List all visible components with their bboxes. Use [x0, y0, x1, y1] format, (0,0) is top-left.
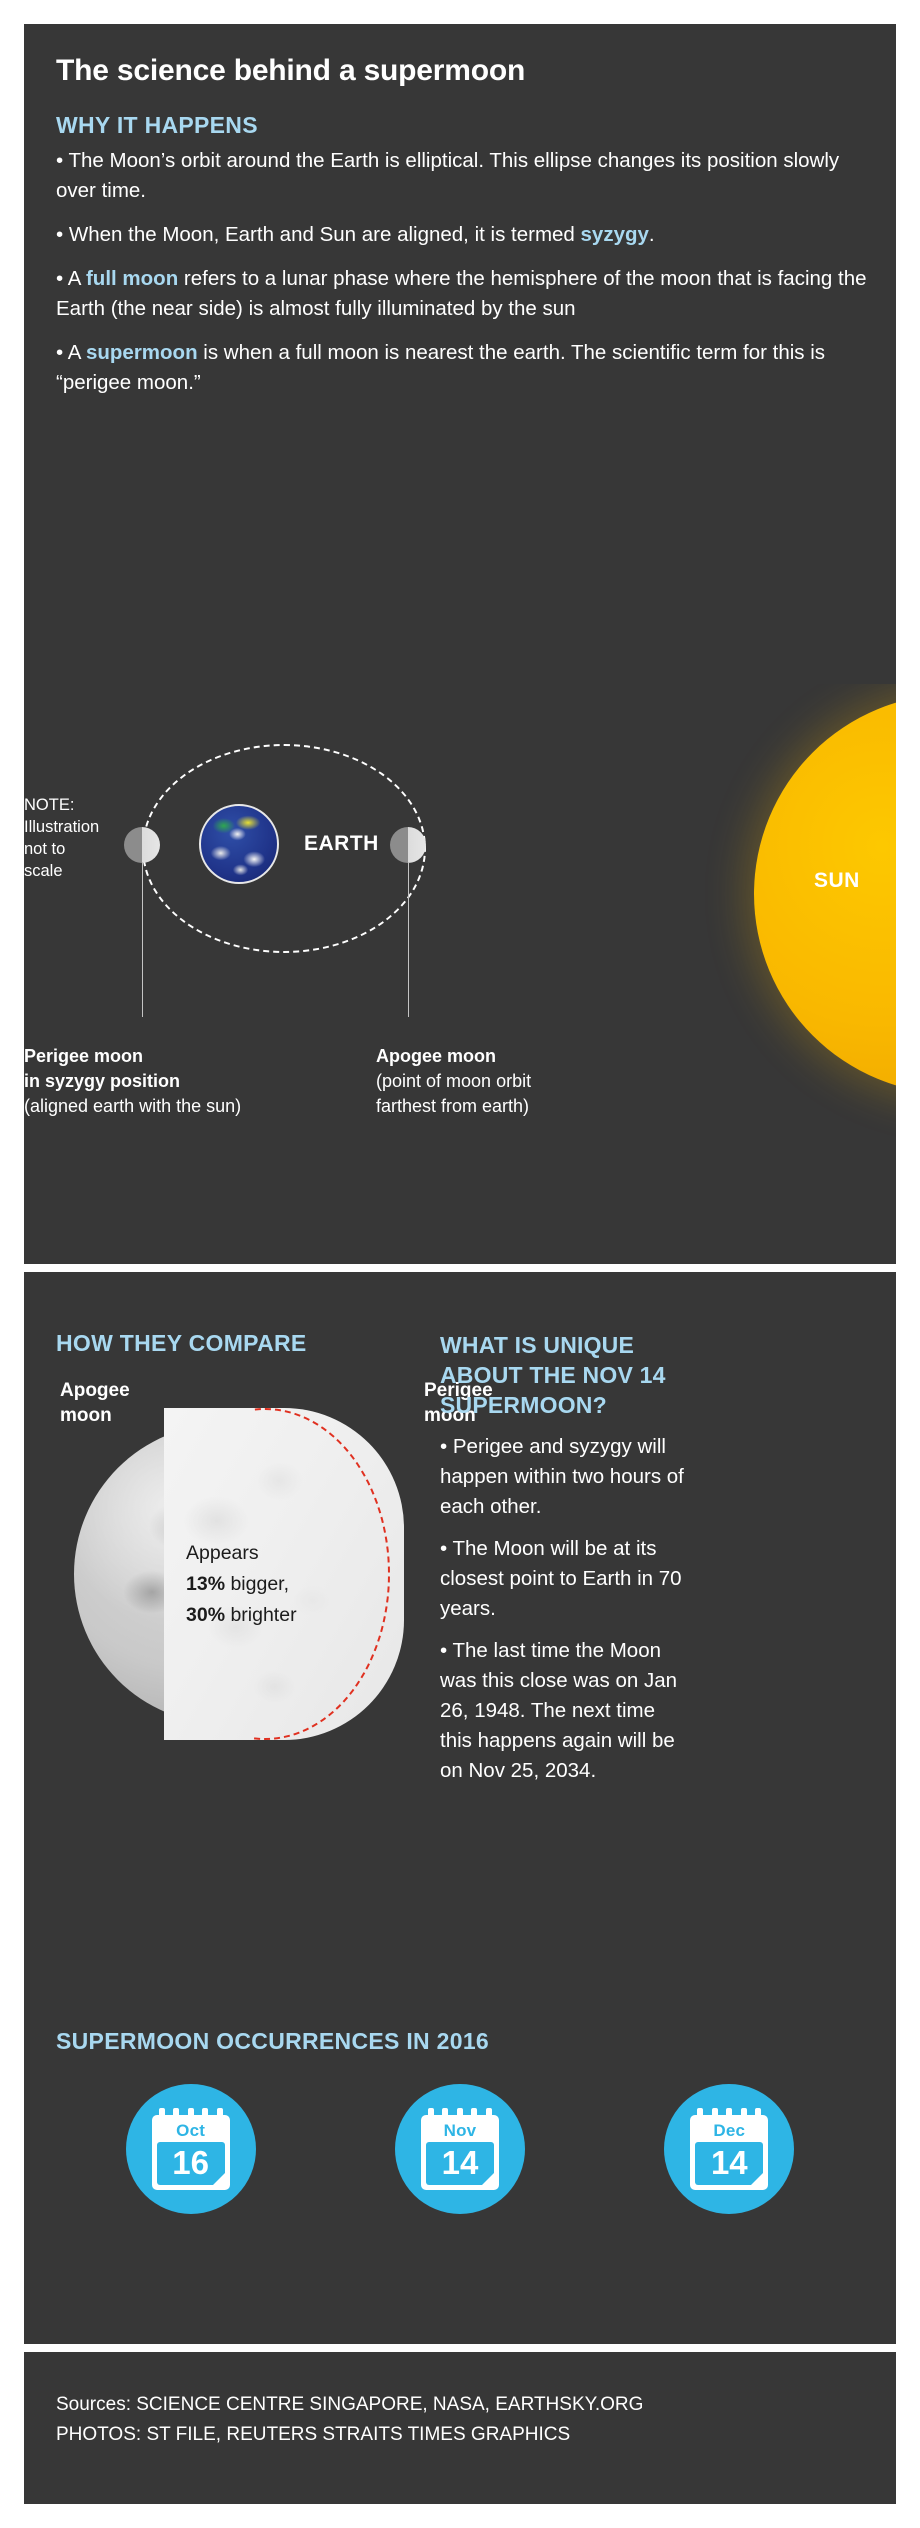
- photos-line: PHOTOS: ST FILE, REUTERS STRAITS TIMES G…: [56, 2420, 856, 2450]
- calendar-badge-nov: Nov 14: [395, 2084, 525, 2214]
- moon-size-comparison-graphic: Appears 13% bigger, 30% brighter: [74, 1424, 404, 1754]
- bullet-syzygy: • When the Moon, Earth and Sun are align…: [56, 220, 876, 250]
- section-heading-how-they-compare: HOW THEY COMPARE: [56, 1330, 307, 1357]
- bullet-orbit-text: • The Moon’s orbit around the Earth is e…: [56, 149, 839, 202]
- calendar-day-block: 16: [157, 2142, 225, 2185]
- apogee-moon-caption: Apogee moon (point of moon orbit farthes…: [376, 1044, 676, 1119]
- note-line-2: Illustration: [24, 816, 124, 838]
- apogee-caption-line-3: farthest from earth): [376, 1094, 676, 1119]
- calendar-icon: Oct 16: [152, 2108, 230, 2190]
- calendar-sheet: Nov 14: [421, 2115, 499, 2190]
- note-line-1: NOTE:: [24, 794, 124, 816]
- bullet-full-moon-text-pre: • A: [56, 267, 86, 290]
- calendar-sheet: Oct 16: [152, 2115, 230, 2190]
- perigee-caption-line-2: in syzygy position: [24, 1069, 304, 1094]
- perigee-caption-line-1: Perigee moon: [24, 1044, 304, 1069]
- bullet-supermoon-text-pre: • A: [56, 341, 86, 364]
- bullet-orbit: • The Moon’s orbit around the Earth is e…: [56, 146, 876, 206]
- calendar-month-oct: Oct: [152, 2121, 230, 2141]
- calendar-icon: Dec 14: [690, 2108, 768, 2190]
- science-panel: The science behind a supermoon WHY IT HA…: [24, 24, 896, 1264]
- appears-lead: Appears: [186, 1538, 354, 1569]
- perigee-caption-line-3: (aligned earth with the sun): [24, 1094, 304, 1119]
- calendar-fold-corner: [482, 2173, 494, 2185]
- size-word: bigger,: [225, 1573, 289, 1595]
- calendar-fold-corner: [213, 2173, 225, 2185]
- calendar-fold-corner: [751, 2173, 763, 2185]
- illustration-note: NOTE: Illustration not to scale: [24, 794, 124, 882]
- bullet-full-moon: • A full moon refers to a lunar phase wh…: [56, 264, 876, 324]
- perigee-moon-icon: [124, 827, 160, 863]
- calendar-badge-oct: Oct 16: [126, 2084, 256, 2214]
- bullet-full-moon-text-post: refers to a lunar phase where the hemisp…: [56, 267, 867, 320]
- unique-bullet-last-time: • The last time the Moon was this close …: [440, 1636, 692, 1786]
- apogee-moon-icon: [390, 827, 426, 863]
- apogee-leader-line: [408, 862, 409, 1017]
- appears-comparison-text: Appears 13% bigger, 30% brighter: [186, 1538, 354, 1631]
- brightness-percent: 30%: [186, 1604, 225, 1626]
- note-line-3: not to: [24, 838, 124, 860]
- apogee-caption-line-2: (point of moon orbit: [376, 1069, 676, 1094]
- bullet-syzygy-text-post: .: [649, 223, 655, 246]
- calendar-month-dec: Dec: [690, 2121, 768, 2141]
- calendar-day-block: 14: [695, 2142, 763, 2185]
- section-heading-what-is-unique: WHAT IS UNIQUE ABOUT THE NOV 14 SUPERMOO…: [440, 1330, 700, 1420]
- why-it-happens-bullets: • The Moon’s orbit around the Earth is e…: [56, 146, 876, 398]
- orbit-diagram: SUN EARTH NOTE: Illustration not to scal…: [24, 684, 896, 1264]
- brightness-word: brighter: [225, 1604, 297, 1626]
- apogee-moon-label-line-1: Apogee: [60, 1378, 130, 1403]
- unique-bullet-perigee-syzygy: • Perigee and syzygy will happen within …: [440, 1432, 692, 1522]
- perigee-moon-caption: Perigee moon in syzygy position (aligned…: [24, 1044, 304, 1119]
- calendar-icon: Nov 14: [421, 2108, 499, 2190]
- size-percent: 13%: [186, 1573, 225, 1595]
- earth-icon: [199, 804, 279, 884]
- section-heading-why-it-happens: WHY IT HAPPENS: [56, 112, 258, 139]
- what-is-unique-bullets: • Perigee and syzygy will happen within …: [440, 1432, 692, 1786]
- term-supermoon: supermoon: [86, 341, 198, 364]
- infographic-page: The science behind a supermoon WHY IT HA…: [0, 0, 920, 2528]
- bullet-supermoon: • A supermoon is when a full moon is nea…: [56, 338, 876, 398]
- note-line-4: scale: [24, 860, 124, 882]
- occurrence-calendar-row: Oct 16 Nov 14: [56, 2084, 864, 2214]
- appears-bright-line: 30% brighter: [186, 1600, 354, 1631]
- sun-label: SUN: [814, 869, 860, 893]
- moon-orbit-path: [142, 744, 426, 953]
- calendar-sheet: Dec 14: [690, 2115, 768, 2190]
- apogee-moon-label: Apogee moon: [60, 1378, 130, 1428]
- appears-size-line: 13% bigger,: [186, 1569, 354, 1600]
- comparison-panel: HOW THEY COMPARE Apogee moon Perigee moo…: [24, 1272, 896, 2344]
- sources-line: Sources: SCIENCE CENTRE SINGAPORE, NASA,…: [56, 2390, 856, 2420]
- page-title: The science behind a supermoon: [56, 54, 525, 88]
- sources-panel: Sources: SCIENCE CENTRE SINGAPORE, NASA,…: [24, 2352, 896, 2504]
- calendar-day-block: 14: [426, 2142, 494, 2185]
- section-heading-occurrences: SUPERMOON OCCURRENCES IN 2016: [56, 2028, 489, 2055]
- sun-icon: [754, 694, 896, 1094]
- term-full-moon: full moon: [86, 267, 178, 290]
- calendar-month-nov: Nov: [421, 2121, 499, 2141]
- calendar-badge-dec: Dec 14: [664, 2084, 794, 2214]
- earth-label: EARTH: [304, 832, 379, 856]
- apogee-caption-line-1: Apogee moon: [376, 1044, 676, 1069]
- bullet-syzygy-text-pre: • When the Moon, Earth and Sun are align…: [56, 223, 581, 246]
- perigee-leader-line: [142, 862, 143, 1017]
- sources-credits: Sources: SCIENCE CENTRE SINGAPORE, NASA,…: [56, 2390, 856, 2450]
- unique-bullet-closest-point: • The Moon will be at its closest point …: [440, 1534, 692, 1624]
- term-syzygy: syzygy: [581, 223, 649, 246]
